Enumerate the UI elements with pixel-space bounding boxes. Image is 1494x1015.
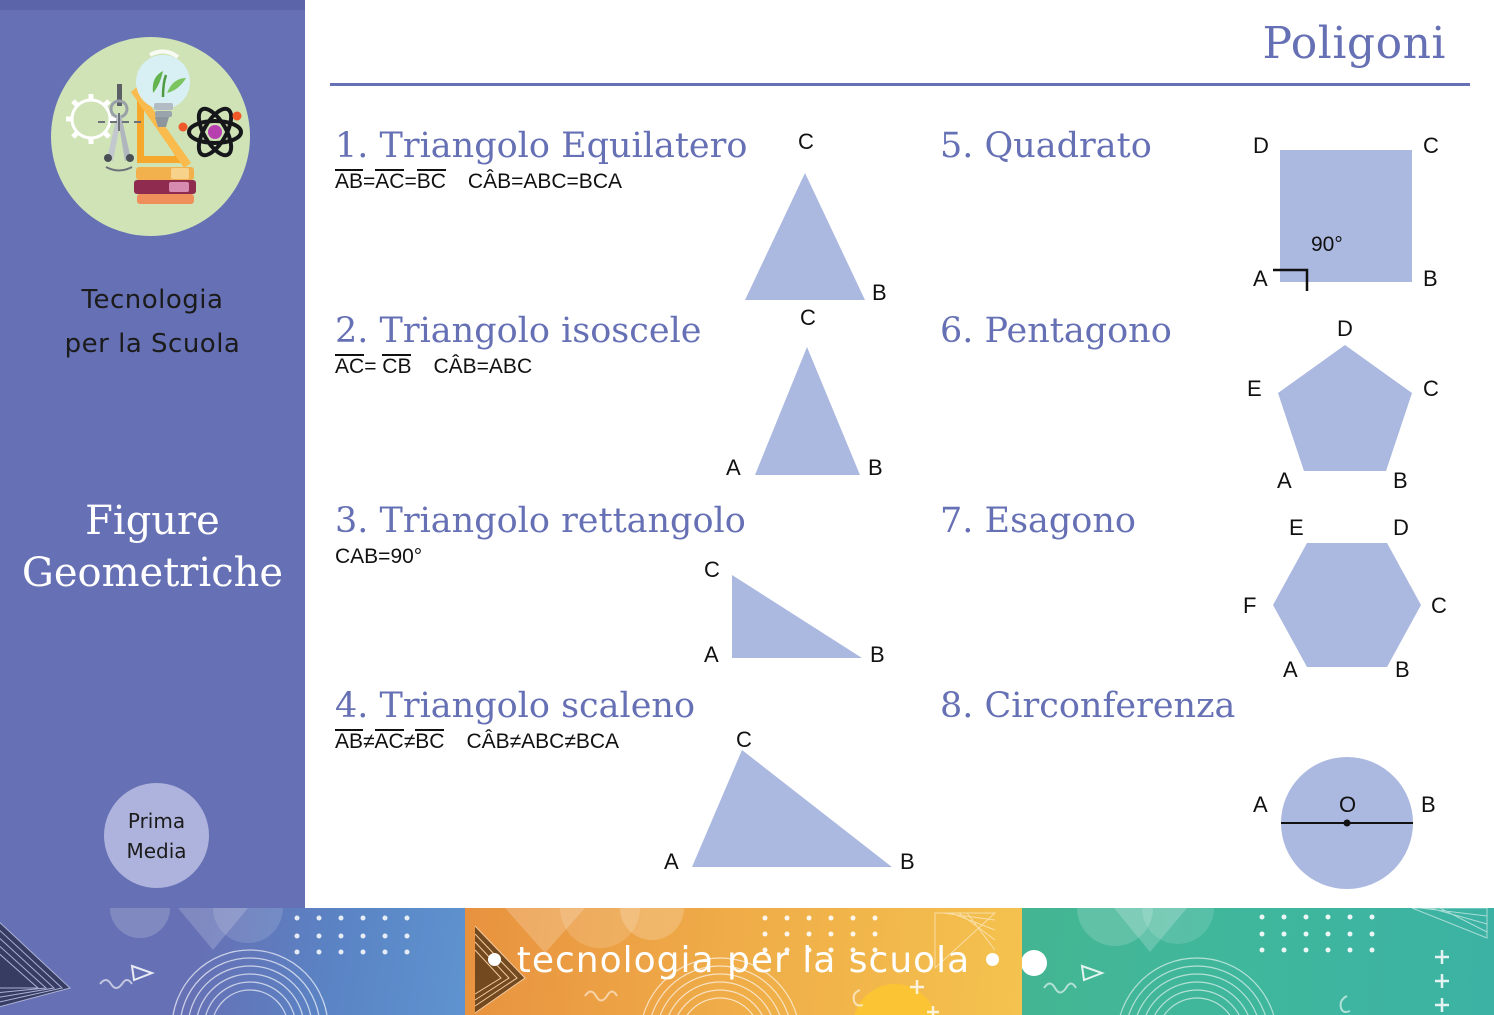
segment-ac: AC [375,169,404,194]
vertex-label-e: E [1247,376,1262,402]
center-point [1344,820,1351,827]
logo-badge [51,37,250,236]
vertex-label-c: C [1423,376,1439,402]
vertex-label-e: E [1289,515,1304,541]
atom-electron-icon [233,112,242,121]
footer-right-decor [1022,908,1494,1015]
entry-title: 2. Triangolo isoscele [335,310,701,352]
vertex-label-b: B [1393,468,1408,494]
entry-formula: AB≠AC≠BCCÂB≠ABC≠BCA [335,729,695,755]
footer-right-panel [1022,908,1494,1015]
footer-center-panel: tecnologia per la scuola [465,908,1022,1015]
angle-label-90: 90° [1311,233,1343,257]
entry-quadrato: 5. Quadrato [940,125,1152,167]
vertex-label-b: B [870,642,885,668]
shape-triangle-isosceles: C A B [680,305,910,495]
angles-expression: CÂB≠ABC≠BCA [466,730,619,753]
entry-formula: AC= CBCÂB=ABC [335,354,701,380]
vertex-label-a: A [726,455,741,481]
vertex-label-b: B [868,455,883,481]
vertex-label-a: A [1253,792,1268,818]
vertex-label-b: B [872,280,887,306]
rel-1: = [363,170,375,193]
subject-line-2: Geometriche [0,547,305,599]
sidebar-top-strip [0,0,305,10]
header: Poligoni [330,18,1470,88]
triangle-decor-icon [132,966,152,980]
vertex-label-a: A [1277,468,1292,494]
segment-ac: AC [375,729,404,754]
segment-bc: BC [417,169,446,194]
entry-title: 6. Pentagono [940,310,1172,352]
entry-title: 8. Circonferenza [940,685,1235,727]
rel-2: ≠ [404,730,416,753]
segment-ab: AB [335,169,363,194]
entry-pentagono: 6. Pentagono [940,310,1172,352]
segment-ac: AC [335,354,364,379]
level-line-1: Prima [128,806,185,836]
vertex-label-a: A [1253,266,1268,292]
angles-expression: CÂB=ABC [433,355,532,378]
dot-right-icon [986,953,999,966]
vertex-label-c: C [1423,133,1439,159]
footer-label: tecnologia per la scuola [517,940,971,981]
entry-triangolo-scaleno: 4. Triangolo scaleno AB≠AC≠BCCÂB≠ABC≠BCA [335,685,695,755]
entry-esagono: 7. Esagono [940,500,1136,542]
subject-line-1: Figure [0,495,305,547]
page-title: Poligoni [1262,18,1446,69]
brand-line-2: per la Scuola [0,322,305,366]
vertex-label-a: A [704,642,719,668]
entry-title: 7. Esagono [940,500,1136,542]
vertex-label-d: D [1337,316,1353,342]
entry-title: 5. Quadrato [940,125,1152,167]
rel-1: = [364,355,376,378]
entry-title: 3. Triangolo rettangolo [335,500,746,542]
brand-name: Tecnologia per la Scuola [0,278,305,366]
segment-bc: BC [415,729,444,754]
shape-hexagon: E D F C A B [1235,505,1465,695]
footer-left-panel [0,908,465,1015]
atom-nucleus-icon [208,125,222,139]
shape-circle: A B O [1235,730,1465,905]
shape-pentagon: D E C A B [1235,310,1465,500]
entry-circonferenza: 8. Circonferenza [940,685,1235,727]
vertex-label-b: B [900,849,915,875]
vertex-label-a: A [1283,657,1298,683]
vertex-label-c: C [704,557,720,583]
shape-square: D C A B 90° [1235,128,1465,318]
level-line-2: Media [126,836,186,866]
gear-icon [66,94,116,144]
shape-triangle-right: C A B [680,550,910,680]
vertex-label-b: B [1421,792,1436,818]
sidebar: Tecnologia per la Scuola Figure Geometri… [0,0,305,908]
segment-ab: AB [335,729,363,754]
logo-illustration [51,37,250,236]
footer-banner: tecnologia per la scuola [0,908,1494,1015]
rel-2: = [404,170,416,193]
angles-expression: CÂB=ABC=BCA [468,170,622,193]
center-label-o: O [1339,792,1356,818]
vertex-label-b: B [1395,657,1410,683]
dot-left-icon [488,953,501,966]
grade-level-badge: Prima Media [104,783,209,888]
vertex-label-c: C [798,129,814,155]
books-icon [134,167,196,204]
entry-title: 4. Triangolo scaleno [335,685,695,727]
infographic-page: Tecnologia per la Scuola Figure Geometri… [0,0,1494,1015]
vertex-label-a: A [664,849,679,875]
header-divider [330,83,1470,86]
entry-triangolo-isoscele: 2. Triangolo isoscele AC= CBCÂB=ABC [335,310,701,380]
shape-triangle-scalene: C A B [650,725,930,890]
brand-line-1: Tecnologia [0,278,305,322]
vertex-label-d: D [1393,515,1409,541]
atom-electron-icon [179,123,188,132]
footer-text: tecnologia per la scuola [465,940,1022,981]
shape-triangle-equilateral: C B A [680,125,910,315]
vertex-label-c: C [1431,593,1447,619]
triangle-scalene-svg [650,725,930,890]
vertex-label-b: B [1423,266,1438,292]
vertex-label-d: D [1253,133,1269,159]
subject-title: Figure Geometriche [0,495,305,599]
segment-cb: CB [382,354,411,379]
vertex-label-f: F [1243,593,1256,619]
vertex-label-c: C [736,727,752,753]
footer-left-decor [0,908,465,1015]
triangle-decor-icon [1082,966,1102,980]
vertex-label-c: C [800,305,816,331]
rel-1: ≠ [363,730,375,753]
